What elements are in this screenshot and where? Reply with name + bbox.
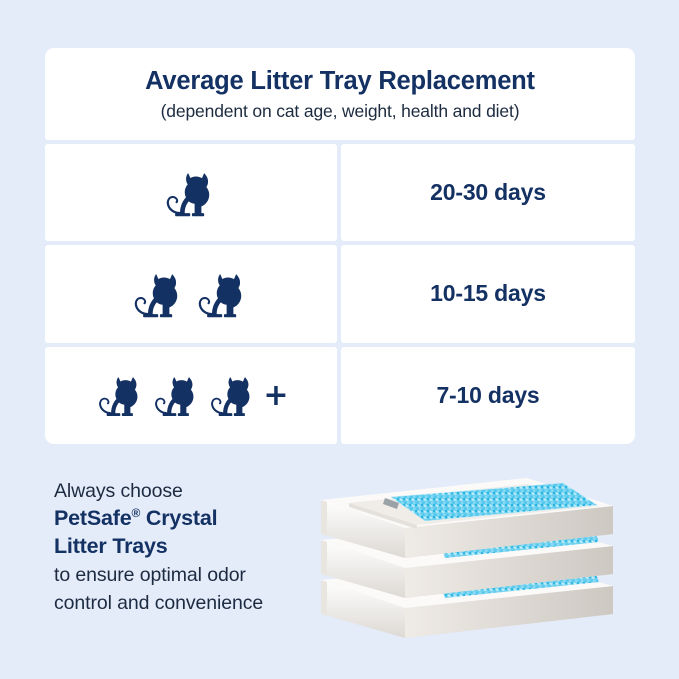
promo-tail-line-1: to ensure optimal odor	[54, 562, 319, 588]
cat-silhouette-icon	[160, 162, 222, 224]
cat-group-1	[160, 162, 222, 224]
promo-brand-line-1: PetSafe® Crystal	[54, 504, 319, 532]
table-header: Average Litter Tray Replacement (depende…	[45, 48, 635, 140]
cat-silhouette-icon	[93, 367, 149, 423]
brand-name: PetSafe	[54, 506, 131, 530]
brand-qualifier: Crystal	[146, 506, 218, 530]
promo-text-block: Always choose PetSafe® Crystal Litter Tr…	[54, 478, 319, 616]
promo-tail-line-2: control and convenience	[54, 590, 319, 616]
table-row: 20-30 days	[45, 144, 635, 241]
days-cell: 7-10 days	[341, 347, 635, 444]
promo-brand-line-2: Litter Trays	[54, 532, 319, 560]
days-value: 7-10 days	[436, 382, 539, 409]
plus-icon: +	[263, 381, 288, 411]
cat-silhouette-icon	[149, 367, 205, 423]
days-value: 10-15 days	[430, 280, 546, 307]
cat-group-2	[128, 263, 254, 325]
days-cell: 10-15 days	[341, 245, 635, 342]
days-value: 20-30 days	[430, 179, 546, 206]
registered-trademark-icon: ®	[131, 506, 140, 520]
cat-group-3: +	[93, 367, 288, 423]
cat-silhouette-icon	[192, 263, 254, 325]
cat-count-cell	[45, 245, 337, 342]
replacement-table-card: Average Litter Tray Replacement (depende…	[45, 48, 635, 444]
table-row: 10-15 days	[45, 245, 635, 342]
page-title: Average Litter Tray Replacement	[145, 67, 535, 96]
stacked-litter-trays-image	[313, 462, 633, 647]
cat-count-cell: +	[45, 347, 337, 444]
table-row: + 7-10 days	[45, 347, 635, 444]
promo-lead-in: Always choose	[54, 478, 319, 504]
cat-silhouette-icon	[205, 367, 261, 423]
cat-silhouette-icon	[128, 263, 190, 325]
cat-count-cell	[45, 144, 337, 241]
page-subtitle: (dependent on cat age, weight, health an…	[161, 101, 520, 122]
days-cell: 20-30 days	[341, 144, 635, 241]
